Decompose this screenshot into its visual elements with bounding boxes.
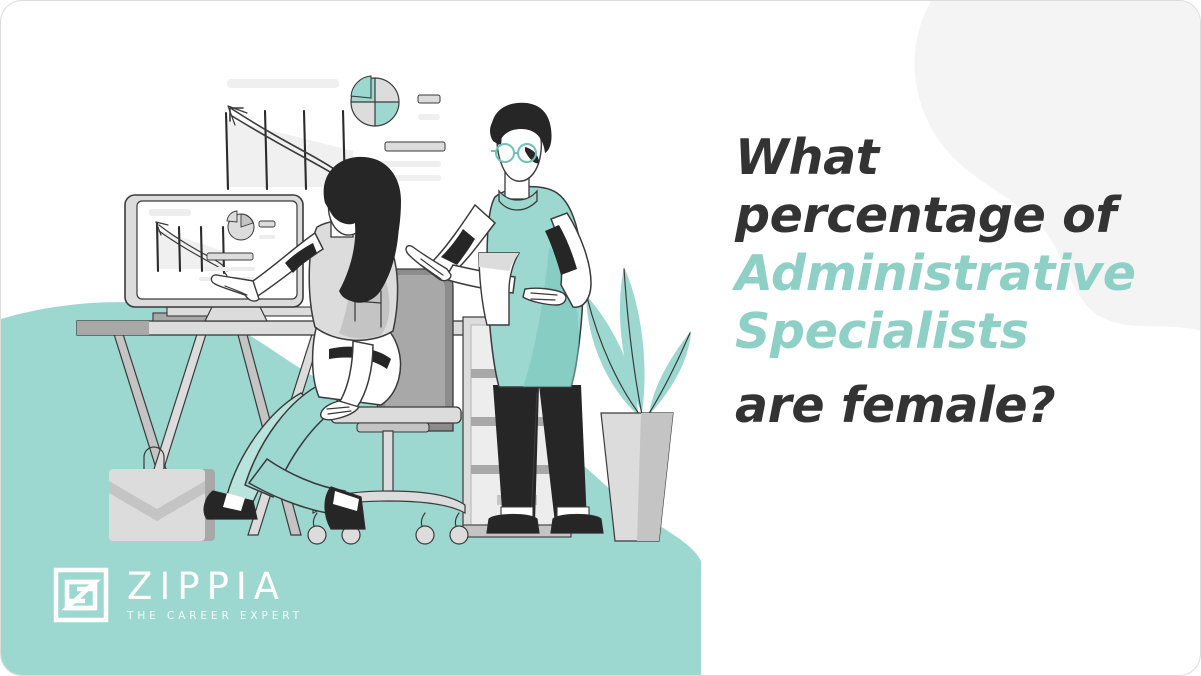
potted-plant: [586, 267, 691, 541]
headline-line-5: are female?: [735, 377, 1165, 435]
infographic-card: .ln { fill:none; stroke:#3a3a3a; stroke-…: [0, 0, 1201, 676]
background-pie-chart: [351, 76, 399, 126]
standing-man: [406, 103, 603, 533]
zippia-z-monogram-icon: [53, 567, 109, 623]
headline-line-3: Administrative: [735, 245, 1165, 303]
headline-line-1: What: [735, 129, 1165, 187]
logo-name: ZIPPIA: [127, 567, 303, 607]
zippia-logo[interactable]: ZIPPIA THE CAREER EXPERT: [53, 567, 303, 623]
logo-wordmark: ZIPPIA THE CAREER EXPERT: [127, 567, 303, 623]
seated-woman: [204, 157, 401, 529]
office-chair: [308, 269, 468, 544]
desk: [77, 321, 495, 535]
background-chart-group: [226, 76, 445, 189]
monitor-pie-chart: [227, 211, 254, 240]
desktop-monitor: [125, 195, 303, 321]
briefcase: [109, 447, 215, 541]
keyboard: [153, 307, 337, 321]
headline-block: What percentage of Administrative Specia…: [735, 129, 1165, 435]
headline-spacer: [735, 361, 1165, 377]
logo-tagline: THE CAREER EXPERT: [127, 609, 303, 623]
filing-cabinet: [463, 317, 571, 537]
headline-line-2: percentage of: [735, 187, 1165, 245]
headline-line-4: Specialists: [735, 303, 1165, 361]
